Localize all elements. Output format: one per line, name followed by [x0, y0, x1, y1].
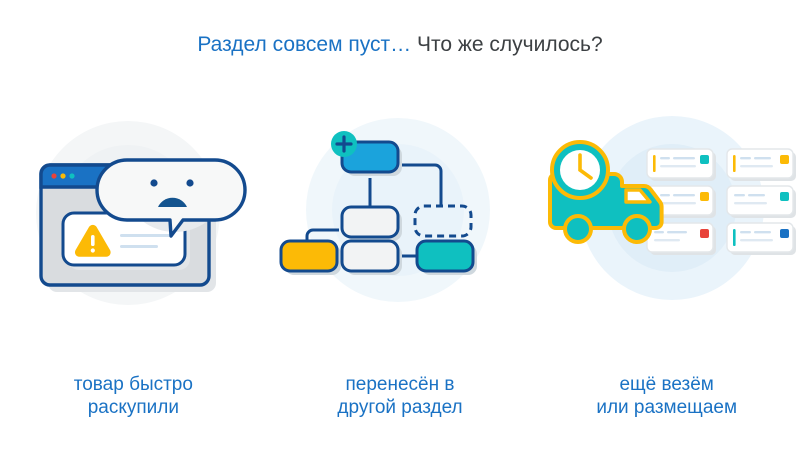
- card-text-line: [673, 157, 695, 159]
- card-text-line: [673, 194, 695, 196]
- window-close-dot-icon[interactable]: [52, 173, 57, 178]
- alert-text-line: [120, 245, 158, 248]
- page-title: Раздел совсем пуст… Что же случилось?: [0, 31, 800, 59]
- reason-column-in-transit: ещё везём или размещаем: [533, 110, 800, 430]
- reason-caption-moved: перенесён в другой раздел: [337, 373, 462, 419]
- window-maximize-dot-icon[interactable]: [70, 173, 75, 178]
- card-avatar: [700, 229, 709, 238]
- warning-exclamation-dot: [91, 248, 95, 252]
- illustration-flowchart: [267, 110, 533, 325]
- truck-wheel-front: [624, 216, 650, 242]
- flowchart-node-right[interactable]: [417, 241, 473, 271]
- page-title-lead: Раздел совсем пуст…: [197, 33, 411, 56]
- card-text-line: [740, 239, 773, 241]
- card-text-line: [654, 231, 664, 233]
- card-avatar: [700, 155, 709, 164]
- truck-wheel-rear: [565, 216, 591, 242]
- bubble-eye-right-icon: [187, 179, 194, 186]
- flowchart-node-left[interactable]: [281, 241, 337, 271]
- card-avatar: [780, 229, 789, 238]
- card-accent-bar: [653, 155, 656, 172]
- card-avatar: [700, 192, 709, 201]
- flowchart-node-center[interactable]: [342, 241, 398, 271]
- card-text-line: [660, 194, 670, 196]
- reason-column-sold-out: товар быстро раскупили: [0, 110, 267, 430]
- card-text-line: [734, 194, 745, 196]
- reason-column-moved: перенесён в другой раздел: [267, 110, 534, 430]
- bubble-eye-left-icon: [151, 179, 158, 186]
- warning-exclamation-bar: [91, 235, 95, 246]
- illustration-browser-alert: [0, 110, 266, 325]
- flowchart-node-middle[interactable]: [342, 207, 398, 237]
- card-accent-bar: [733, 155, 736, 172]
- card-text-line: [654, 239, 680, 241]
- card-text-line: [660, 157, 670, 159]
- reason-caption-in-transit: ещё везём или размещаем: [596, 373, 737, 419]
- card-text-line: [754, 157, 771, 159]
- window-minimize-dot-icon[interactable]: [61, 173, 66, 178]
- card-text-line: [734, 202, 767, 204]
- page-title-tail: Что же случилось?: [411, 33, 603, 56]
- reason-caption-sold-out: товар быстро раскупили: [74, 373, 193, 419]
- illustration-truck-cards: [534, 110, 800, 325]
- card-text-line: [667, 231, 687, 233]
- reason-columns: товар быстро раскупили: [0, 110, 800, 430]
- card-text-line: [748, 194, 765, 196]
- card-text-line: [740, 231, 751, 233]
- card-avatar: [780, 192, 789, 201]
- card-text-line: [740, 165, 773, 167]
- card-text-line: [740, 157, 751, 159]
- empty-state-page: Раздел совсем пуст… Что же случилось?: [0, 0, 800, 452]
- alert-text-line: [120, 234, 170, 237]
- card-text-line: [660, 165, 696, 167]
- card-avatar: [780, 155, 789, 164]
- card-accent-bar: [733, 229, 736, 246]
- card-text-line: [660, 202, 696, 204]
- card-text-line: [754, 231, 771, 233]
